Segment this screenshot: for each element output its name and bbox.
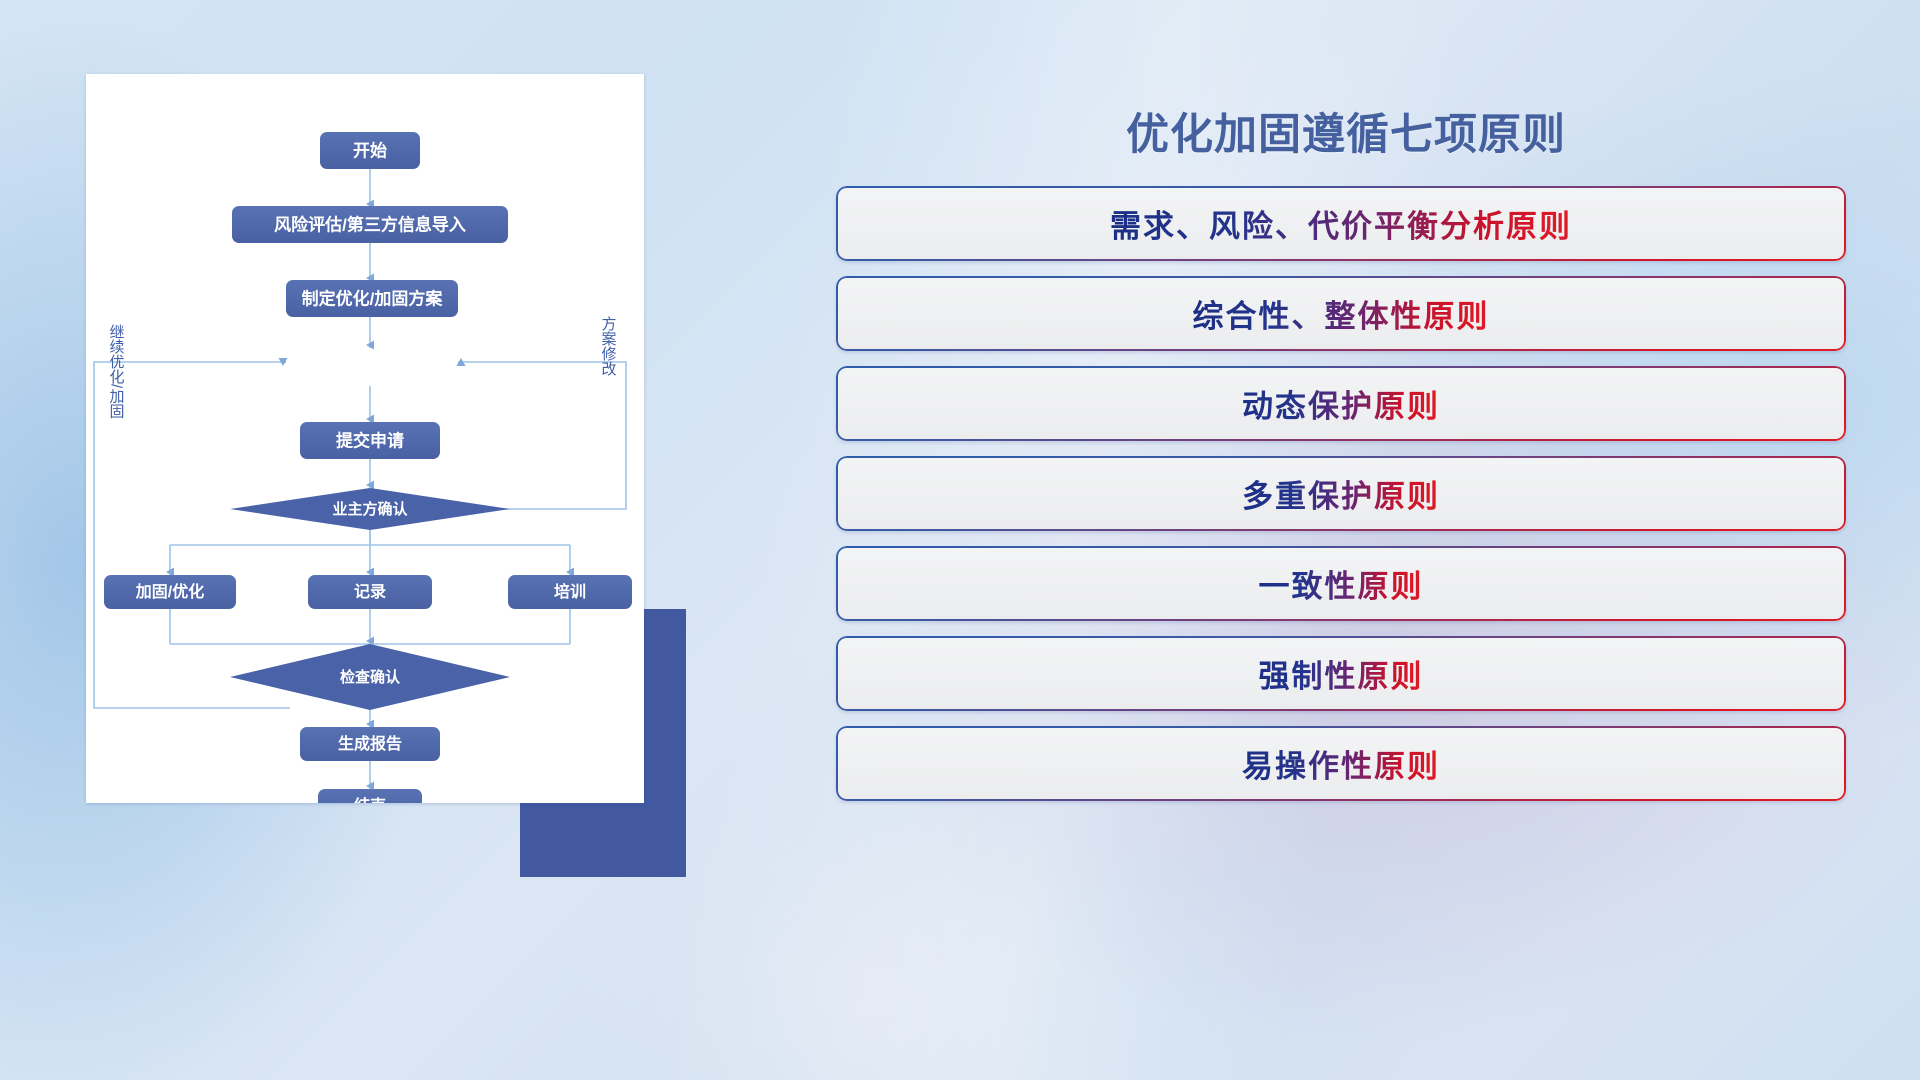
- principle-item[interactable]: 综合性、整体性原则: [836, 276, 1846, 351]
- principle-label: 强制性原则: [1259, 651, 1424, 696]
- flow-node-end-label: 结束: [353, 796, 387, 803]
- flowchart-diagram: 继续优化/加固 方案修改 开始 风险评估/第三方信息导入 制定优化/加固方案 提…: [86, 74, 644, 803]
- flow-edge-label-right: 方案修改: [600, 316, 617, 376]
- principle-label: 易操作性原则: [1242, 741, 1440, 786]
- flow-node-check-label: 检查确认: [340, 668, 401, 686]
- flow-node-reinforce-label: 加固/优化: [135, 582, 204, 601]
- principle-label: 综合性、整体性原则: [1193, 291, 1490, 336]
- flow-node-submit-label: 提交申请: [336, 430, 404, 450]
- principle-item[interactable]: 易操作性原则: [836, 726, 1846, 801]
- principle-item[interactable]: 一致性原则: [836, 546, 1846, 621]
- principle-label: 动态保护原则: [1242, 381, 1440, 426]
- flow-edge-label-left: 继续优化/加固: [108, 324, 125, 418]
- page-title: 优化加固遵循七项原则: [946, 100, 1746, 162]
- flow-node-plan-label: 制定优化/加固方案: [302, 288, 444, 308]
- principle-item[interactable]: 动态保护原则: [836, 366, 1846, 441]
- flow-node-risk-label: 风险评估/第三方信息导入: [274, 214, 466, 234]
- flow-node-report-label: 生成报告: [338, 734, 402, 753]
- principles-list: 需求、风险、代价平衡分析原则 综合性、整体性原则 动态保护原则 多重保护原则 一…: [836, 186, 1846, 816]
- principle-item[interactable]: 需求、风险、代价平衡分析原则: [836, 186, 1846, 261]
- principle-label: 需求、风险、代价平衡分析原则: [1110, 201, 1572, 246]
- flow-node-start-label: 开始: [353, 140, 387, 160]
- principles-panel: 优化加固遵循七项原则 需求、风险、代价平衡分析原则 综合性、整体性原则 动态保护…: [836, 78, 1846, 1008]
- principle-item[interactable]: 多重保护原则: [836, 456, 1846, 531]
- flow-node-training-label: 培训: [554, 582, 586, 601]
- principle-label: 一致性原则: [1259, 561, 1424, 606]
- flow-node-record-label: 记录: [354, 583, 386, 601]
- flowchart-panel: 继续优化/加固 方案修改 开始 风险评估/第三方信息导入 制定优化/加固方案 提…: [86, 74, 646, 803]
- principle-item[interactable]: 强制性原则: [836, 636, 1846, 711]
- principle-label: 多重保护原则: [1242, 471, 1440, 516]
- flow-node-owner-confirm-label: 业主方确认: [332, 500, 408, 518]
